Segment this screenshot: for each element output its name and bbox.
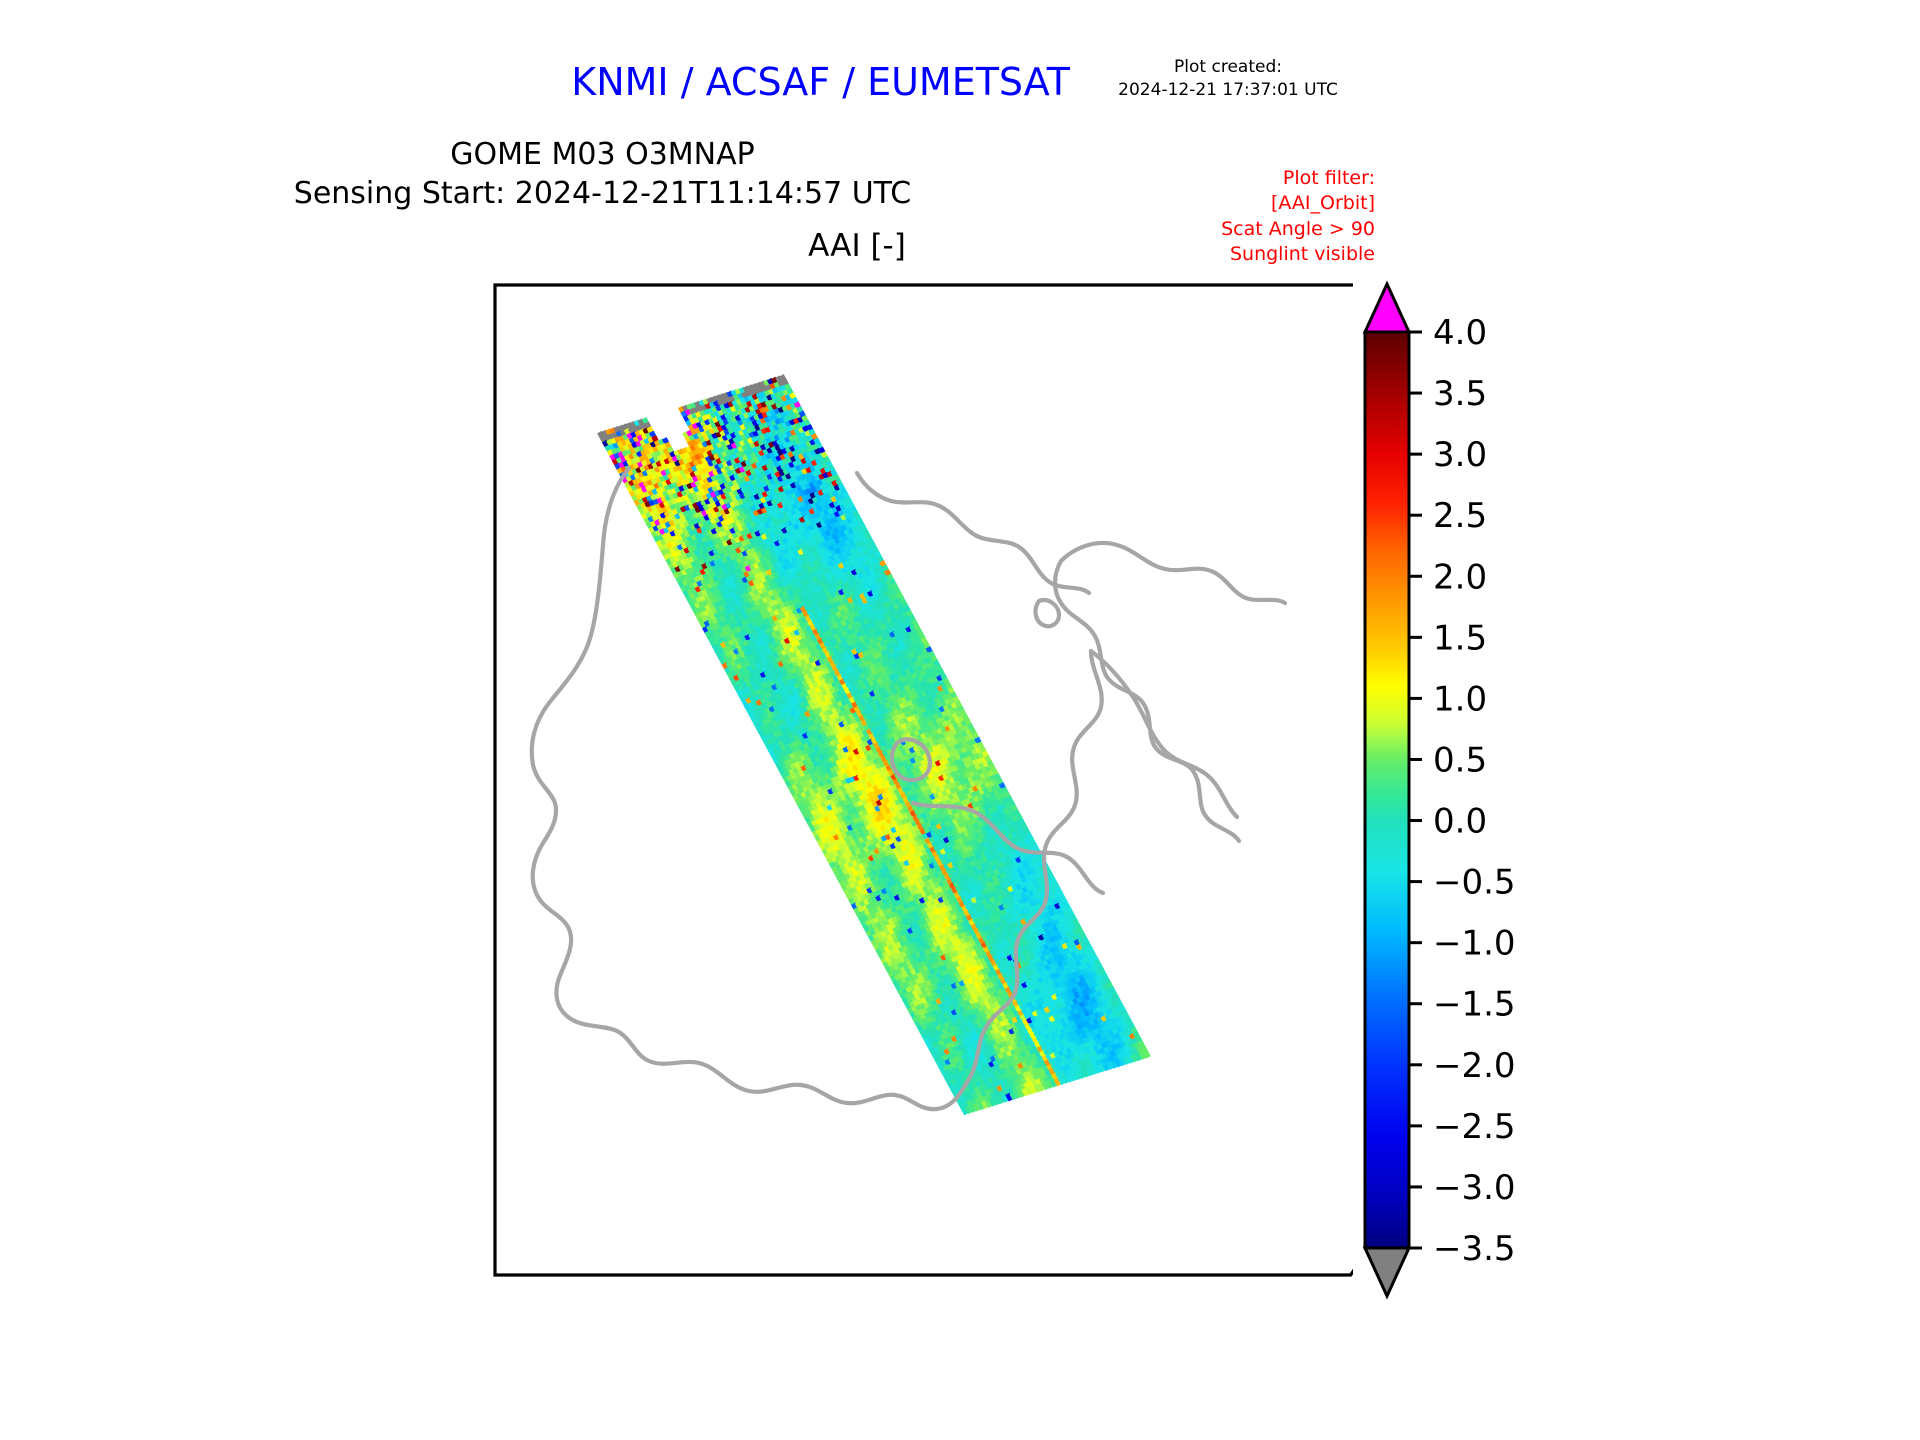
plot-created-timestamp: 2024-12-21 17:37:01 UTC [1078,79,1378,102]
colorbar-svg: 4.03.53.02.52.01.51.00.50.0−0.5−1.0−1.5−… [1355,280,1605,1300]
colorbar-tick-label: −3.5 [1433,1229,1516,1269]
colorbar: 4.03.53.02.52.01.51.00.50.0−0.5−1.0−1.5−… [1355,280,1605,1300]
page-title: GOME M03 O3MNAP Sensing Start: 2024-12-2… [0,135,1205,213]
colorbar-tick-label: 1.0 [1433,679,1487,719]
plot-created-block: Plot created: 2024-12-21 17:37:01 UTC [1078,56,1378,102]
colorbar-gradient-bar [1365,332,1409,1248]
colorbar-tick-label: 2.0 [1433,557,1487,597]
instrument-title: GOME M03 O3MNAP [0,135,1205,174]
plot-filter-block: Plot filter: [AAI_Orbit] Scat Angle > 90… [1105,166,1375,267]
colorbar-tick-label: 3.0 [1433,435,1487,475]
polar-stereographic-map [493,283,1353,1277]
colorbar-tick-label: −3.0 [1433,1168,1516,1208]
sensing-start-title: Sensing Start: 2024-12-21T11:14:57 UTC [0,174,1205,213]
organisation-title: KNMI / ACSAF / EUMETSAT [0,60,1070,104]
colorbar-tick-label: −2.0 [1433,1046,1516,1086]
colorbar-tick-label: −1.0 [1433,924,1516,964]
colorbar-tick-label: −2.5 [1433,1107,1516,1147]
plot-filter-sunglint: Sunglint visible [1105,242,1375,267]
colorbar-tick-label: 0.5 [1433,740,1487,780]
plot-filter-name: [AAI_Orbit] [1105,191,1375,216]
map-panel [493,283,1353,1277]
colorbar-over-arrow [1365,284,1409,332]
plot-filter-label: Plot filter: [1105,166,1375,191]
colorbar-ticks [1409,332,1422,1248]
colorbar-tick-label: 2.5 [1433,496,1487,536]
colorbar-tick-label: −1.5 [1433,985,1516,1025]
colorbar-tick-labels: 4.03.53.02.52.01.51.00.50.0−0.5−1.0−1.5−… [1433,313,1516,1269]
plot-created-label: Plot created: [1078,56,1378,79]
colorbar-tick-label: 1.5 [1433,618,1487,658]
colorbar-tick-label: 3.5 [1433,374,1487,414]
colorbar-tick-label: −0.5 [1433,863,1516,903]
colorbar-tick-label: 0.0 [1433,802,1487,842]
colorbar-under-arrow [1365,1248,1409,1296]
colorbar-tick-label: 4.0 [1433,313,1487,353]
plot-filter-scat-angle: Scat Angle > 90 [1105,217,1375,242]
